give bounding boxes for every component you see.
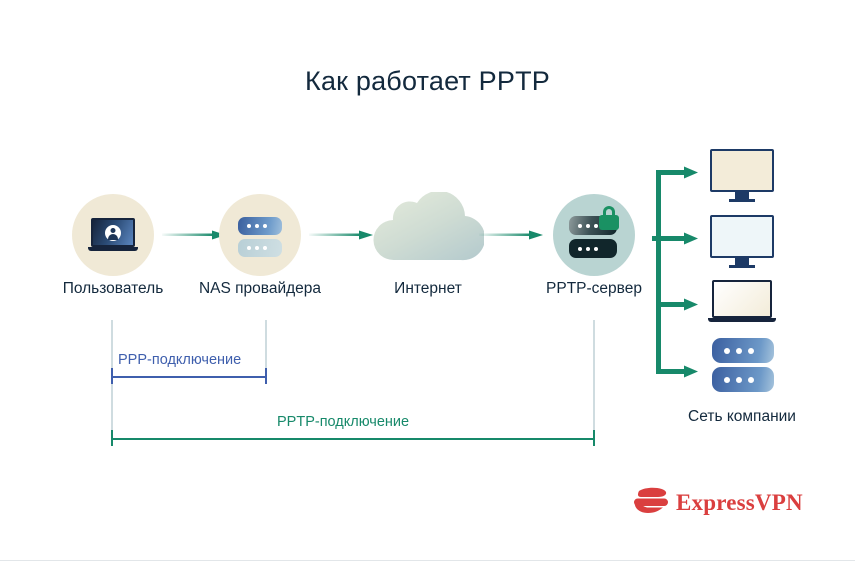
monitor-screen bbox=[710, 215, 774, 258]
laptop-user-icon bbox=[88, 218, 138, 254]
bracket-tick-pptp-left bbox=[111, 430, 113, 446]
avatar-body bbox=[108, 234, 118, 240]
server-bar-bottom bbox=[569, 239, 617, 258]
flow-node-internet bbox=[372, 192, 484, 262]
bracket-line-pptp bbox=[111, 438, 595, 440]
avatar bbox=[105, 225, 121, 241]
server-icon bbox=[712, 338, 774, 392]
server-bar-top bbox=[238, 217, 282, 235]
server-bar-bottom bbox=[712, 367, 774, 392]
monitor-foot bbox=[729, 199, 755, 202]
bracket-tick-pptp-right bbox=[593, 430, 595, 446]
server-dots bbox=[578, 224, 598, 228]
server-dots bbox=[247, 246, 267, 250]
laptop-screen bbox=[91, 218, 135, 247]
server-dots bbox=[247, 224, 267, 228]
flow-node-pptp-server-label: PPTP-сервер bbox=[514, 280, 674, 298]
flow-node-nas bbox=[219, 194, 301, 276]
flow-node-pptp-server bbox=[553, 194, 635, 276]
flow-node-user bbox=[72, 194, 154, 276]
laptop-icon bbox=[708, 280, 776, 324]
server-dots bbox=[724, 348, 754, 354]
monitor-icon bbox=[710, 149, 774, 201]
cloud-icon bbox=[372, 192, 484, 262]
bracket-tick-ppp-right bbox=[265, 368, 267, 384]
monitor-icon bbox=[710, 215, 774, 267]
bracket-label-ppp: PPP-подключение bbox=[118, 352, 241, 368]
server-dots bbox=[578, 247, 598, 251]
laptop-screen bbox=[712, 280, 772, 318]
server-bar-top bbox=[712, 338, 774, 363]
laptop-base bbox=[88, 247, 138, 251]
company-network-label: Сеть компании bbox=[662, 408, 822, 426]
bracket-line-ppp bbox=[111, 376, 267, 378]
server-icon bbox=[238, 217, 282, 257]
bracket-label-pptp: PPTP-подключение bbox=[277, 414, 409, 430]
guide-line-nas bbox=[265, 320, 267, 375]
laptop-base bbox=[708, 318, 776, 322]
monitor-screen bbox=[710, 149, 774, 192]
expressvpn-logo-text: ExpressVPN bbox=[676, 490, 803, 516]
flow-node-nas-label: NAS провайдера bbox=[180, 280, 340, 298]
flow-node-user-label: Пользователь bbox=[33, 280, 193, 298]
expressvpn-logo: ExpressVPN bbox=[632, 486, 788, 524]
monitor-neck bbox=[735, 192, 749, 199]
arrow-right-icon bbox=[162, 230, 226, 240]
avatar-head bbox=[111, 228, 116, 233]
flow-node-internet-label: Интернет bbox=[348, 280, 508, 298]
server-bar-bottom bbox=[238, 239, 282, 257]
server-dots bbox=[724, 377, 754, 383]
arrow-right-icon bbox=[309, 230, 373, 240]
lock-body bbox=[599, 215, 619, 230]
monitor-foot bbox=[729, 265, 755, 268]
diagram-canvas: Как работает PPTP Пользователь bbox=[0, 0, 855, 561]
branch-arrow-icon bbox=[652, 162, 708, 380]
expressvpn-e-mark-icon bbox=[632, 486, 670, 518]
guide-line-pptp bbox=[593, 320, 595, 438]
monitor-neck bbox=[735, 258, 749, 265]
bracket-tick-ppp-left bbox=[111, 368, 113, 384]
lock-icon bbox=[599, 206, 619, 230]
arrow-right-icon bbox=[479, 230, 543, 240]
page-title: Как работает PPTP bbox=[0, 66, 855, 97]
